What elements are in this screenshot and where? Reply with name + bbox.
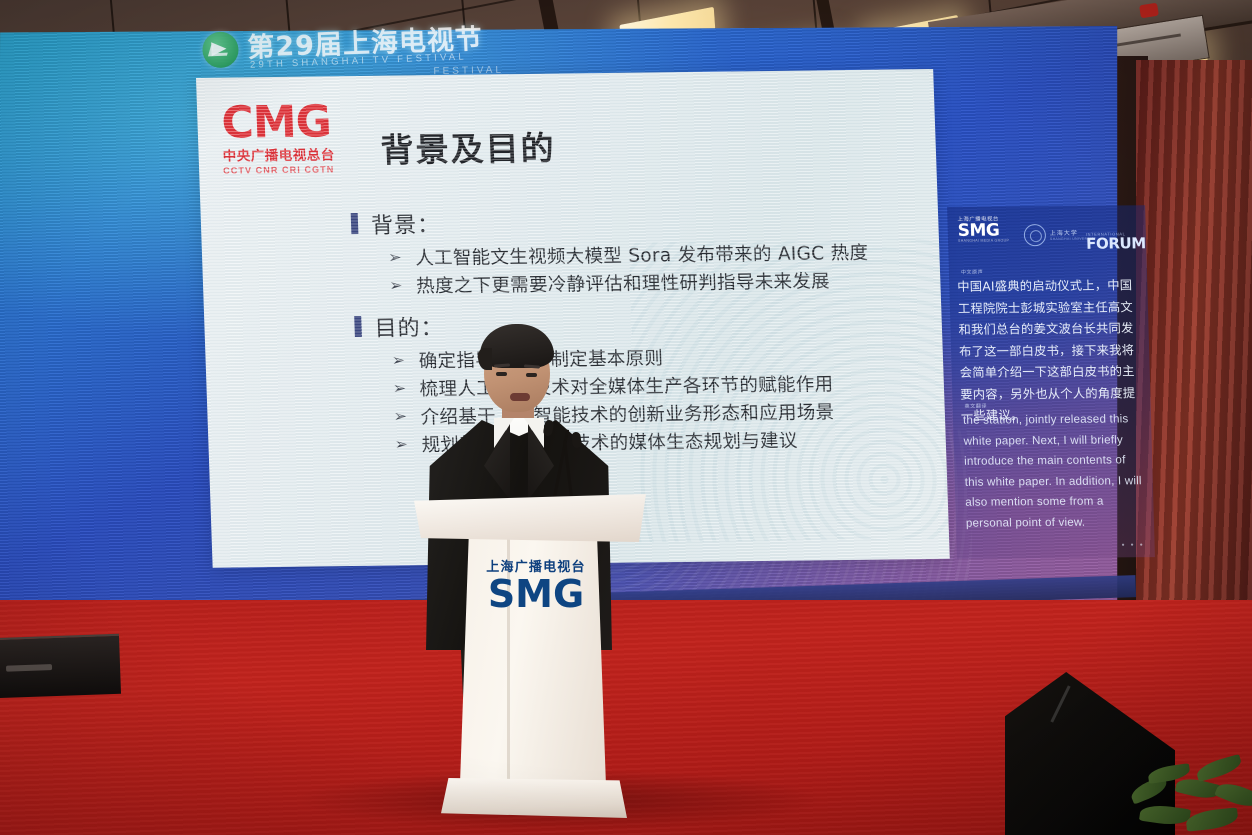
podium-wordmark: SMG (476, 575, 596, 613)
decorative-green-plants (1130, 760, 1252, 835)
section-bullet-marker (354, 316, 362, 337)
smg-org-en: SHANGHAI MEDIA GROUP (958, 238, 1009, 242)
bullet-text: 热度之下更需要冷静评估和理性研判指导未来发展 (416, 268, 831, 300)
arrow-bullet-icon: ➢ (389, 276, 408, 294)
presenter-eye-left (496, 372, 507, 376)
subtitle-continuation-dots: • • • (1122, 540, 1145, 549)
presenter-eye-right (526, 373, 537, 377)
section-heading-text: 背景： (371, 207, 441, 240)
presenter-hair (480, 324, 554, 368)
bullet-text: 人工智能文生视频大模型 Sora 发布带来的 AIGC 热度 (415, 240, 869, 273)
plant-leaf (1185, 807, 1239, 831)
podium: 上海广播电视台 SMG (414, 494, 646, 824)
ceiling-indicator-light (1139, 3, 1159, 19)
en-subtitle-label: 英文翻译 (965, 403, 988, 410)
arrow-bullet-icon: ➢ (388, 248, 407, 266)
en-subtitle-text: the station, jointly released this white… (963, 409, 1146, 534)
presenter-mouth (510, 393, 530, 401)
subtitle-panel: 上海广播电视台 SMG SHANGHAI MEDIA GROUP 上海大学 SH… (947, 205, 1155, 559)
cn-subtitle-label: 中文原声 (961, 269, 984, 276)
podium-logo: 上海广播电视台 SMG (476, 556, 596, 613)
section-bullet-marker (351, 213, 359, 234)
cmg-channel-list: CCTV CNR CRI CGTN (223, 164, 365, 176)
stage-floor-speaker (0, 634, 121, 699)
slide-section-heading: 背景： (351, 201, 932, 240)
cmg-logo: CMG 中央广播电视总台 CCTV CNR CRI CGTN (221, 102, 366, 180)
university-seal-icon (1024, 224, 1047, 246)
plant-leaf (1139, 803, 1191, 828)
slide-title: 背景及目的 (380, 122, 557, 172)
shanghai-tv-festival-magnolia-icon (202, 31, 239, 68)
stage-scene: 第29届上海电视节 29TH SHANGHAI TV FESTIVAL FEST… (0, 0, 1252, 835)
cmg-org-name-cn: 中央广播电视总台 (222, 143, 365, 165)
smg-logo: 上海广播电视台 SMG SHANGHAI MEDIA GROUP (957, 214, 1009, 242)
plant-leaf (1214, 778, 1252, 811)
podium-base (441, 778, 627, 818)
forum-logo: INTERNATIONAL FORUM (1086, 231, 1146, 251)
cmg-wordmark: CMG (221, 102, 364, 144)
smg-wordmark: SMG (958, 222, 1010, 238)
forum-wordmark: FORUM (1086, 236, 1146, 251)
podium-top-surface (414, 494, 646, 542)
panel-logo-row: 上海广播电视台 SMG SHANGHAI MEDIA GROUP 上海大学 SH… (955, 209, 1142, 263)
microphone-icon (571, 432, 582, 449)
